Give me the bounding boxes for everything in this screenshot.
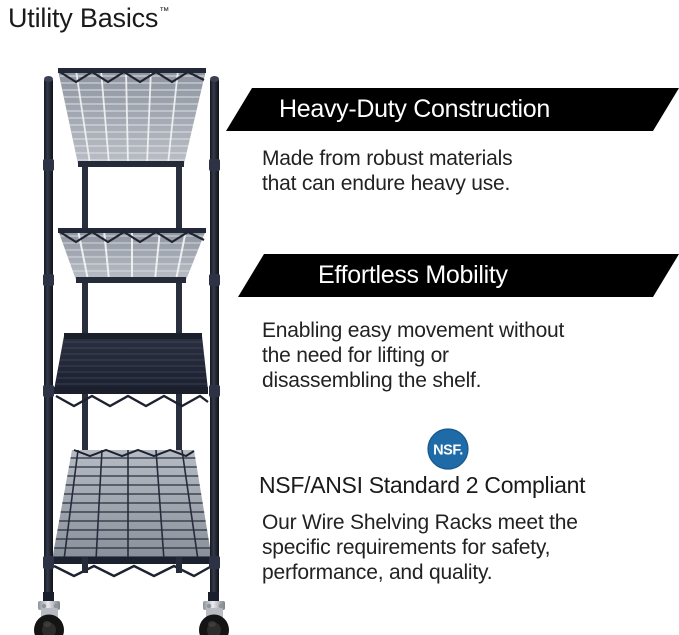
brand-name: Utility Basics [8,4,158,34]
nsf-compliance-body: Our Wire Shelving Racks meet the specifi… [262,510,677,585]
feature-body-line: the need for lifting or [262,343,672,368]
nsf-certification-logo: NSF. [427,428,469,470]
feature-heading-heavy-duty: Heavy-Duty Construction [279,95,550,124]
feature-body-line: Enabling easy movement without [262,318,672,343]
nsf-body-line: Our Wire Shelving Racks meet the [262,510,677,535]
product-infographic: Utility Basics ™ [0,0,679,635]
feature-content-column: Heavy-Duty Construction Made from robust… [248,0,679,635]
nsf-body-line: specific requirements for safety, [262,535,677,560]
svg-text:NSF.: NSF. [433,443,463,459]
feature-body-mobility: Enabling easy movement without the need … [262,318,672,393]
post-front-right [210,78,219,598]
trademark-symbol: ™ [159,7,169,17]
shelf-4 [52,447,213,576]
feature-body-heavy-duty: Made from robust materials that can endu… [262,146,672,196]
feature-body-line: disassembling the shelf. [262,368,672,393]
nsf-body-line: performance, and quality. [262,560,677,585]
nsf-compliance-caption: NSF/ANSI Standard 2 Compliant [259,471,679,499]
shelf-1 [58,68,206,167]
feature-banner-heavy-duty: Heavy-Duty Construction [226,88,679,131]
post-front-left [44,78,53,598]
shelf-2 [58,228,206,283]
product-image-wire-shelving-rack [16,52,248,635]
brand-title: Utility Basics ™ [8,4,169,34]
feature-body-line: Made from robust materials [262,146,672,171]
feature-banner-mobility: Effortless Mobility [238,254,679,297]
feature-body-line: that can endure heavy use. [262,171,672,196]
feature-heading-mobility: Effortless Mobility [318,261,508,290]
